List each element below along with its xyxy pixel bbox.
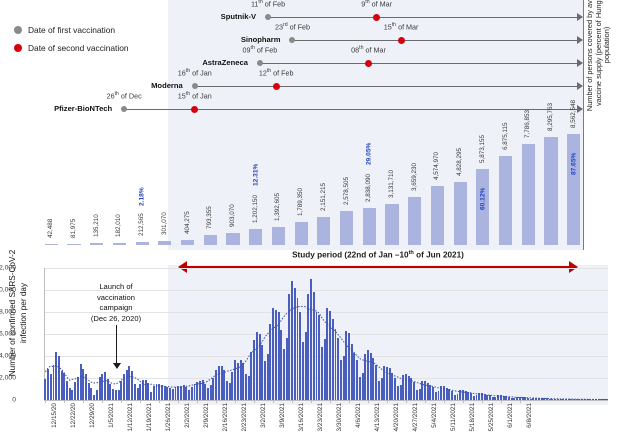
bar-rect <box>249 229 262 245</box>
x-tick-mark <box>45 400 46 403</box>
bar-rect <box>90 243 103 245</box>
first-vaccination-marker[interactable] <box>265 14 271 20</box>
bar-value-label: 3,131,710 <box>388 170 395 198</box>
timeline-line <box>195 86 577 87</box>
x-tick-mark <box>235 400 236 403</box>
x-tick-mark <box>520 400 521 403</box>
y-tick-label: 8,000 <box>0 309 16 316</box>
second-vaccination-marker[interactable] <box>398 37 405 44</box>
x-tick-mark <box>406 400 407 403</box>
x-tick-label: 12/22/20 <box>70 403 77 428</box>
second-vaccination-date: 08th of Mar <box>351 45 386 54</box>
x-tick-label: 6/8/2021 <box>526 403 533 428</box>
x-tick-label: 12/29/20 <box>89 403 96 428</box>
bar-value-label: 1,789,350 <box>297 188 304 216</box>
annotation-arrow-icon <box>113 363 121 369</box>
bar-value-label: 301,070 <box>161 212 168 235</box>
x-tick-mark <box>102 400 103 403</box>
supply-bar: 1,202,15012.31% <box>249 128 262 245</box>
supply-bar: 903,070 <box>226 128 239 245</box>
bar-percent-label: 60.12% <box>479 187 486 209</box>
timeline-row-moderna: Moderna16th of Jan12th of Feb <box>0 75 622 97</box>
x-tick-label: 2/23/2021 <box>241 403 248 431</box>
supply-bar: 8,295,763 <box>544 128 557 245</box>
annotation-pointer-line <box>116 325 117 365</box>
x-tick-mark <box>444 400 445 403</box>
y-tick-label: 2,000 <box>0 375 16 382</box>
timeline-line <box>260 63 577 64</box>
second-vaccination-date: 9th of Mar <box>361 0 392 8</box>
bar-rect <box>136 242 149 245</box>
timeline-row-sputnik-v: Sputnik-V11th of Feb9th of Mar <box>0 6 622 28</box>
x-tick-label: 5/11/2021 <box>450 403 457 431</box>
bar-value-label: 7,786,853 <box>524 110 531 138</box>
supply-bar: 42,488 <box>45 128 58 245</box>
bar-value-label: 135,210 <box>93 214 100 237</box>
x-tick-label: 2/9/2021 <box>203 403 210 428</box>
x-tick-label: 1/26/2021 <box>165 403 172 431</box>
x-tick-label: 3/16/2021 <box>298 403 305 431</box>
daily-infections-chart: Number of confirmed SARS-CoV-2 infection… <box>0 262 622 443</box>
x-tick-label: 3/23/2021 <box>317 403 324 431</box>
supply-bar: 135,210 <box>90 128 103 245</box>
x-tick-label: 2/2/2021 <box>184 403 191 428</box>
y-tick-label: 0 <box>0 397 16 404</box>
bar-rect <box>544 137 557 245</box>
supply-bar: 301,070 <box>158 128 171 245</box>
bar-value-label: 42,488 <box>48 218 55 237</box>
supply-bar: 8,562,54887.65% <box>567 128 580 245</box>
timeline-line <box>292 40 577 41</box>
x-tick-mark <box>197 400 198 403</box>
bar-value-label: 404,275 <box>184 211 191 234</box>
x-tick-label: 2/16/2021 <box>222 403 229 431</box>
x-tick-mark <box>140 400 141 403</box>
supply-bar: 1,392,605 <box>272 128 285 245</box>
x-tick-label: 4/27/2021 <box>412 403 419 431</box>
supply-bar: 3,659,230 <box>408 128 421 245</box>
vaccine-name: AstraZeneca <box>202 58 248 67</box>
bar-value-label: 4,574,970 <box>434 152 441 180</box>
y-tick-label: 10,000 <box>0 287 16 294</box>
bar-value-label: 5,873,155 <box>479 135 486 163</box>
bar-rect <box>272 227 285 245</box>
x-tick-mark <box>425 400 426 403</box>
timeline-row-astrazeneca: AstraZeneca09th of Feb08th of Mar <box>0 52 622 74</box>
x-tick-mark <box>83 400 84 403</box>
bar-value-label: 8,562,548 <box>570 100 577 128</box>
bar-rect <box>181 240 194 245</box>
bar-percent-label: 29.05% <box>366 142 373 164</box>
figure-root: Date of first vaccination Date of second… <box>0 0 622 443</box>
supply-bar: 5,873,15560.12% <box>476 128 489 245</box>
bar-value-label: 793,355 <box>206 206 213 229</box>
timeline-row-sinopharm: Sinopharm23rd of Feb15th of Mar <box>0 29 622 51</box>
bar-rect <box>431 186 444 245</box>
bar-value-label: 182,010 <box>116 214 123 237</box>
supply-bar: 3,131,710 <box>385 128 398 245</box>
x-tick-mark <box>159 400 160 403</box>
first-vaccination-date: 11th of Feb <box>251 0 285 8</box>
x-tick-label: 5/18/2021 <box>469 403 476 431</box>
supply-bar: 6,875,115 <box>499 128 512 245</box>
y-tick-label: 4,000 <box>0 353 16 360</box>
bar-rect <box>408 197 421 245</box>
bar-percent-label: 12.31% <box>252 164 259 186</box>
supply-bar: 793,355 <box>204 128 217 245</box>
study-period-text-a: Study period (22nd of Jan –10 <box>292 251 408 260</box>
second-vaccination-marker[interactable] <box>373 14 380 21</box>
supply-bar: 7,786,853 <box>522 128 535 245</box>
x-tick-mark <box>121 400 122 403</box>
bar-rect <box>363 208 376 245</box>
bar-value-label: 3,659,230 <box>411 163 418 191</box>
x-tick-label: 4/20/2021 <box>393 403 400 431</box>
supply-bar: 2,151,215 <box>317 128 330 245</box>
supply-bar: 182,010 <box>113 128 126 245</box>
x-axis-line <box>44 400 608 401</box>
x-tick-mark <box>463 400 464 403</box>
x-tick-mark <box>330 400 331 403</box>
x-tick-mark <box>64 400 65 403</box>
second-vaccination-marker[interactable] <box>191 106 198 113</box>
vaccine-name: Sputnik-V <box>221 12 256 21</box>
bar-value-label: 1,392,605 <box>275 193 282 221</box>
x-tick-label: 5/25/2021 <box>488 403 495 431</box>
x-tick-mark <box>273 400 274 403</box>
x-tick-mark <box>216 400 217 403</box>
study-period-text-b: of Jun 2021) <box>414 251 464 260</box>
bar-rect <box>340 211 353 245</box>
timeline-line <box>268 17 577 18</box>
y-tick-label: 12,000 <box>0 265 16 272</box>
x-tick-mark <box>368 400 369 403</box>
x-tick-mark <box>482 400 483 403</box>
supply-bar: 4,574,970 <box>431 128 444 245</box>
supply-bar: 404,275 <box>181 128 194 245</box>
y-tick-label: 6,000 <box>0 331 16 338</box>
vaccine-name: Moderna <box>151 81 183 90</box>
x-tick-label: 4/6/2021 <box>355 403 362 428</box>
x-tick-label: 1/19/2021 <box>146 403 153 431</box>
first-vaccination-marker[interactable] <box>192 83 198 89</box>
first-vaccination-date: 16th of Jan <box>178 68 212 77</box>
bar-value-label: 6,875,115 <box>502 122 509 150</box>
annotation-line-2: vaccination <box>70 293 162 304</box>
annotation-line-4: (Dec 26, 2020) <box>70 314 162 325</box>
bar-value-label: 2,578,505 <box>343 177 350 205</box>
supply-bar: 212,5652.18% <box>136 128 149 245</box>
x-tick-label: 1/5/2021 <box>108 403 115 428</box>
bar-rect <box>226 233 239 245</box>
second-vaccination-date: 15th of Mar <box>384 22 419 31</box>
bar-value-label: 4,828,295 <box>456 148 463 176</box>
x-tick-mark <box>501 400 502 403</box>
first-vaccination-date: 26th of Dec <box>107 91 142 100</box>
vaccine-name: Pfizer-BioNTech <box>54 104 112 113</box>
x-tick-label: 3/30/2021 <box>336 403 343 431</box>
x-tick-label: 4/13/2021 <box>374 403 381 431</box>
right-axis-line <box>583 0 584 250</box>
x-tick-label: 5/4/2021 <box>431 403 438 428</box>
supply-bar: 4,828,295 <box>454 128 467 245</box>
x-tick-label: 12/15/20 <box>51 403 58 428</box>
bar-value-label: 2,151,215 <box>320 183 327 211</box>
campaign-annotation: Launch of vaccination campaign (Dec 26, … <box>70 282 162 324</box>
bar-value-label: 81,975 <box>70 218 77 237</box>
bar-rect <box>522 144 535 245</box>
first-vaccination-marker[interactable] <box>289 37 295 43</box>
bar-rect <box>45 244 58 246</box>
supply-bar: 2,578,505 <box>340 128 353 245</box>
x-tick-label: 3/9/2021 <box>279 403 286 428</box>
bar-rect <box>454 182 467 245</box>
second-vaccination-date: 15th of Jan <box>178 91 212 100</box>
x-tick-mark <box>254 400 255 403</box>
bar-rect <box>67 244 80 246</box>
first-vaccination-date: 09th of Feb <box>243 45 278 54</box>
study-period-label: Study period (22nd of Jan –10th of Jun 2… <box>178 250 578 260</box>
x-tick-label: 1/12/2021 <box>127 403 134 431</box>
bar-rect <box>158 241 171 245</box>
x-tick-mark <box>292 400 293 403</box>
x-tick-mark <box>387 400 388 403</box>
first-vaccination-marker[interactable] <box>121 106 127 112</box>
vaccine-name: Sinopharm <box>241 35 281 44</box>
bar-value-label: 903,070 <box>229 205 236 228</box>
bar-percent-label: 87.65% <box>570 152 577 174</box>
bar-rect <box>385 204 398 245</box>
bar-value-label: 8,295,763 <box>547 103 554 131</box>
first-vaccination-marker[interactable] <box>257 60 263 66</box>
x-tick-mark <box>349 400 350 403</box>
x-tick-label: 6/1/2021 <box>507 403 514 428</box>
annotation-line-3: campaign <box>70 303 162 314</box>
bar-value-label: 2,838,090 <box>365 174 372 202</box>
bar-percent-label: 2.18% <box>139 187 146 206</box>
second-vaccination-date: 12th of Feb <box>259 68 294 77</box>
bar-rect <box>317 217 330 245</box>
bar-rect <box>499 156 512 245</box>
bar-rect <box>113 243 126 245</box>
x-tick-mark <box>178 400 179 403</box>
x-tick-mark <box>311 400 312 403</box>
x-tick-label: 3/2/2021 <box>260 403 267 428</box>
supply-bar: 2,838,09029.05% <box>363 128 376 245</box>
second-vaccination-marker[interactable] <box>273 83 280 90</box>
bar-rect <box>567 134 580 245</box>
supply-bar: 1,789,350 <box>295 128 308 245</box>
supply-bar: 81,975 <box>67 128 80 245</box>
bar-value-label: 212,565 <box>138 213 145 236</box>
bar-value-label: 1,202,150 <box>252 195 259 223</box>
bar-rect <box>295 222 308 245</box>
vaccine-supply-bar-chart: 42,48881,975135,210182,010212,5652.18%30… <box>40 128 585 245</box>
second-vaccination-marker[interactable] <box>365 60 372 67</box>
right-axis-label: Number of persons covered by available v… <box>586 0 612 120</box>
first-vaccination-date: 23rd of Feb <box>275 22 310 31</box>
bar-rect <box>204 235 217 245</box>
annotation-line-1: Launch of <box>70 282 162 293</box>
